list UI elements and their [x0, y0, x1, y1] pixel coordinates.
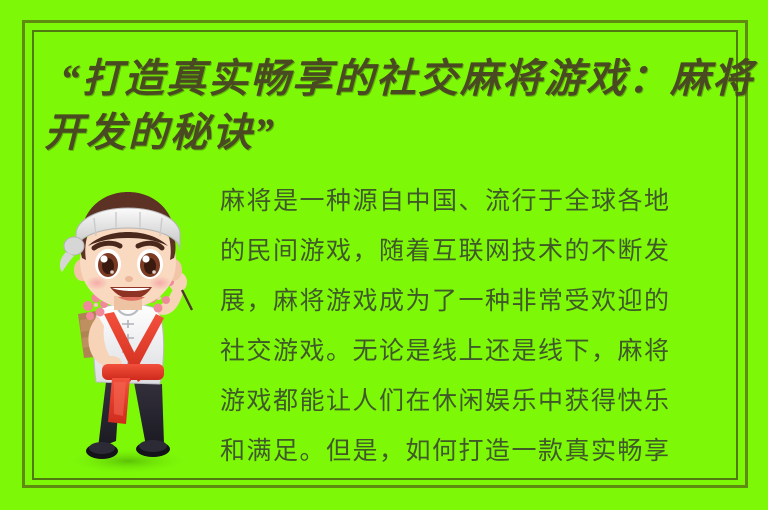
- body-line: 的民间游戏，随着互联网技术的不断发: [220, 226, 732, 276]
- headband-knot: [64, 237, 84, 255]
- body-line: 展，麻将游戏成为了一种非常受欢迎的: [220, 276, 732, 326]
- title-line-2: 开发的秘诀”: [44, 106, 734, 160]
- body-line: 游戏都能让人们在休闲娱乐中获得快乐: [220, 376, 732, 426]
- eye-right: [137, 249, 163, 279]
- chibi-boy-character-illustration: [42, 186, 214, 478]
- cheek-left: [86, 276, 108, 290]
- body-line: 社交游戏。无论是线上还是线下，麻将: [220, 326, 732, 376]
- nose: [125, 276, 133, 282]
- body-line: 和满足。但是，如何打造一款真实畅享: [220, 426, 732, 476]
- ground-shadow: [62, 447, 194, 475]
- body-line: 麻将是一种源自中国、流行于全球各地: [220, 176, 732, 226]
- head-group: [60, 192, 182, 310]
- title-line-1: “打造真实畅享的社交麻将游戏：麻将: [44, 52, 734, 106]
- page-title: “打造真实畅享的社交麻将游戏：麻将 开发的秘诀”: [44, 52, 734, 160]
- body-paragraph: 麻将是一种源自中国、流行于全球各地 的民间游戏，随着互联网技术的不断发 展，麻将…: [220, 176, 732, 476]
- article-card: “打造真实畅享的社交麻将游戏：麻将 开发的秘诀” 麻将是一种源自中国、流行于全球…: [0, 0, 768, 510]
- eye-left: [95, 249, 121, 279]
- cheek-right: [149, 276, 171, 290]
